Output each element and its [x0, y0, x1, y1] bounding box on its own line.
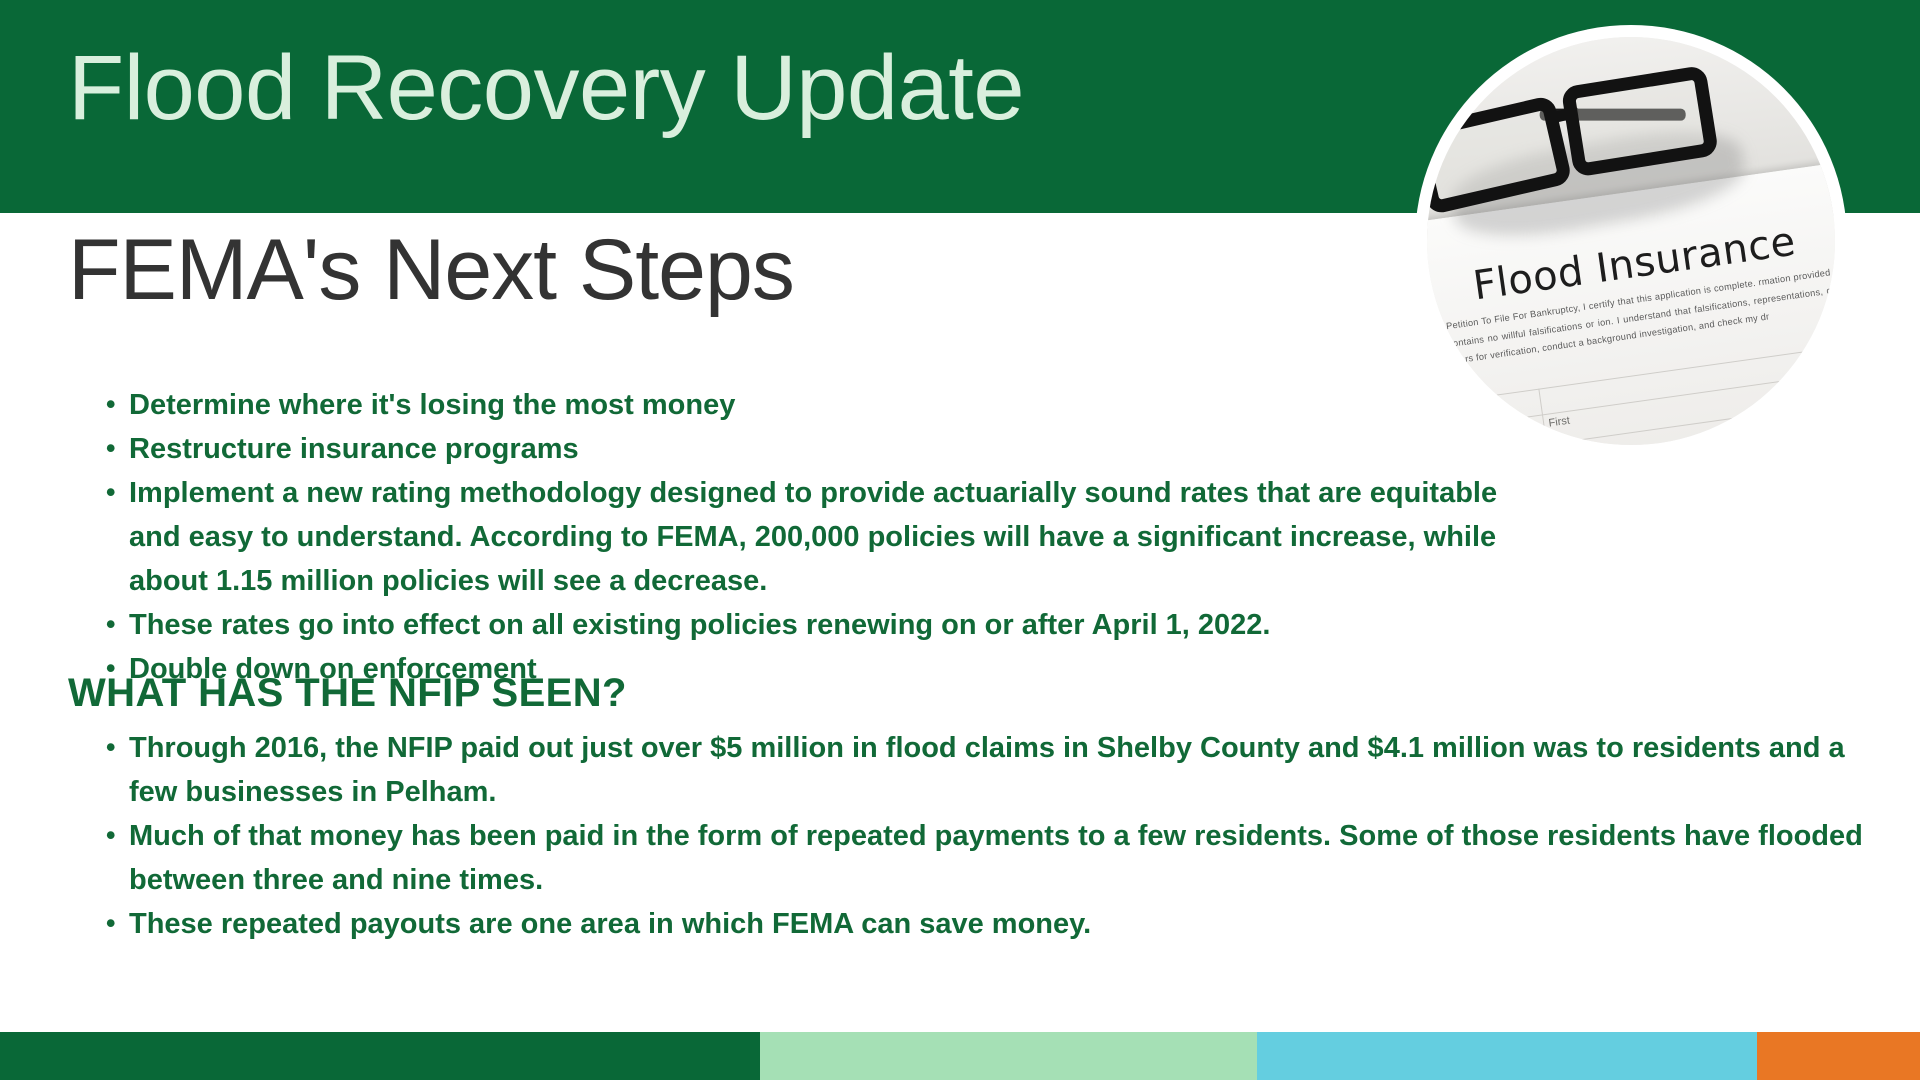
footer-color-bar — [0, 1032, 1920, 1080]
section-title: FEMA's Next Steps — [68, 223, 794, 318]
list-item: Through 2016, the NFIP paid out just ove… — [100, 726, 1900, 814]
list-item: Determine where it's losing the most mon… — [100, 383, 1520, 427]
page-title: Flood Recovery Update — [68, 36, 1024, 142]
fema-next-steps-list: Determine where it's losing the most mon… — [100, 383, 1520, 691]
footer-segment-dark-green — [0, 1032, 760, 1080]
list-item: Implement a new rating methodology desig… — [100, 471, 1520, 603]
list-item: Much of that money has been paid in the … — [100, 814, 1900, 902]
list-item: These repeated payouts are one area in w… — [100, 902, 1900, 946]
eyeglasses-lens-right — [1560, 64, 1719, 176]
list-item: These rates go into effect on all existi… — [100, 603, 1520, 647]
footer-segment-light-green — [760, 1032, 1257, 1080]
photo-document-field-label: First — [1548, 414, 1571, 429]
photo-inner: Flood Insurance nd submitting Petition T… — [1427, 37, 1835, 445]
nfip-findings-list: Through 2016, the NFIP paid out just ove… — [100, 726, 1900, 946]
nfip-subheading: WHAT HAS THE NFIP SEEN? — [68, 671, 627, 716]
footer-segment-orange — [1757, 1032, 1920, 1080]
list-item: Restructure insurance programs — [100, 427, 1520, 471]
flood-insurance-photo: Flood Insurance nd submitting Petition T… — [1415, 25, 1847, 457]
footer-segment-cyan — [1257, 1032, 1757, 1080]
